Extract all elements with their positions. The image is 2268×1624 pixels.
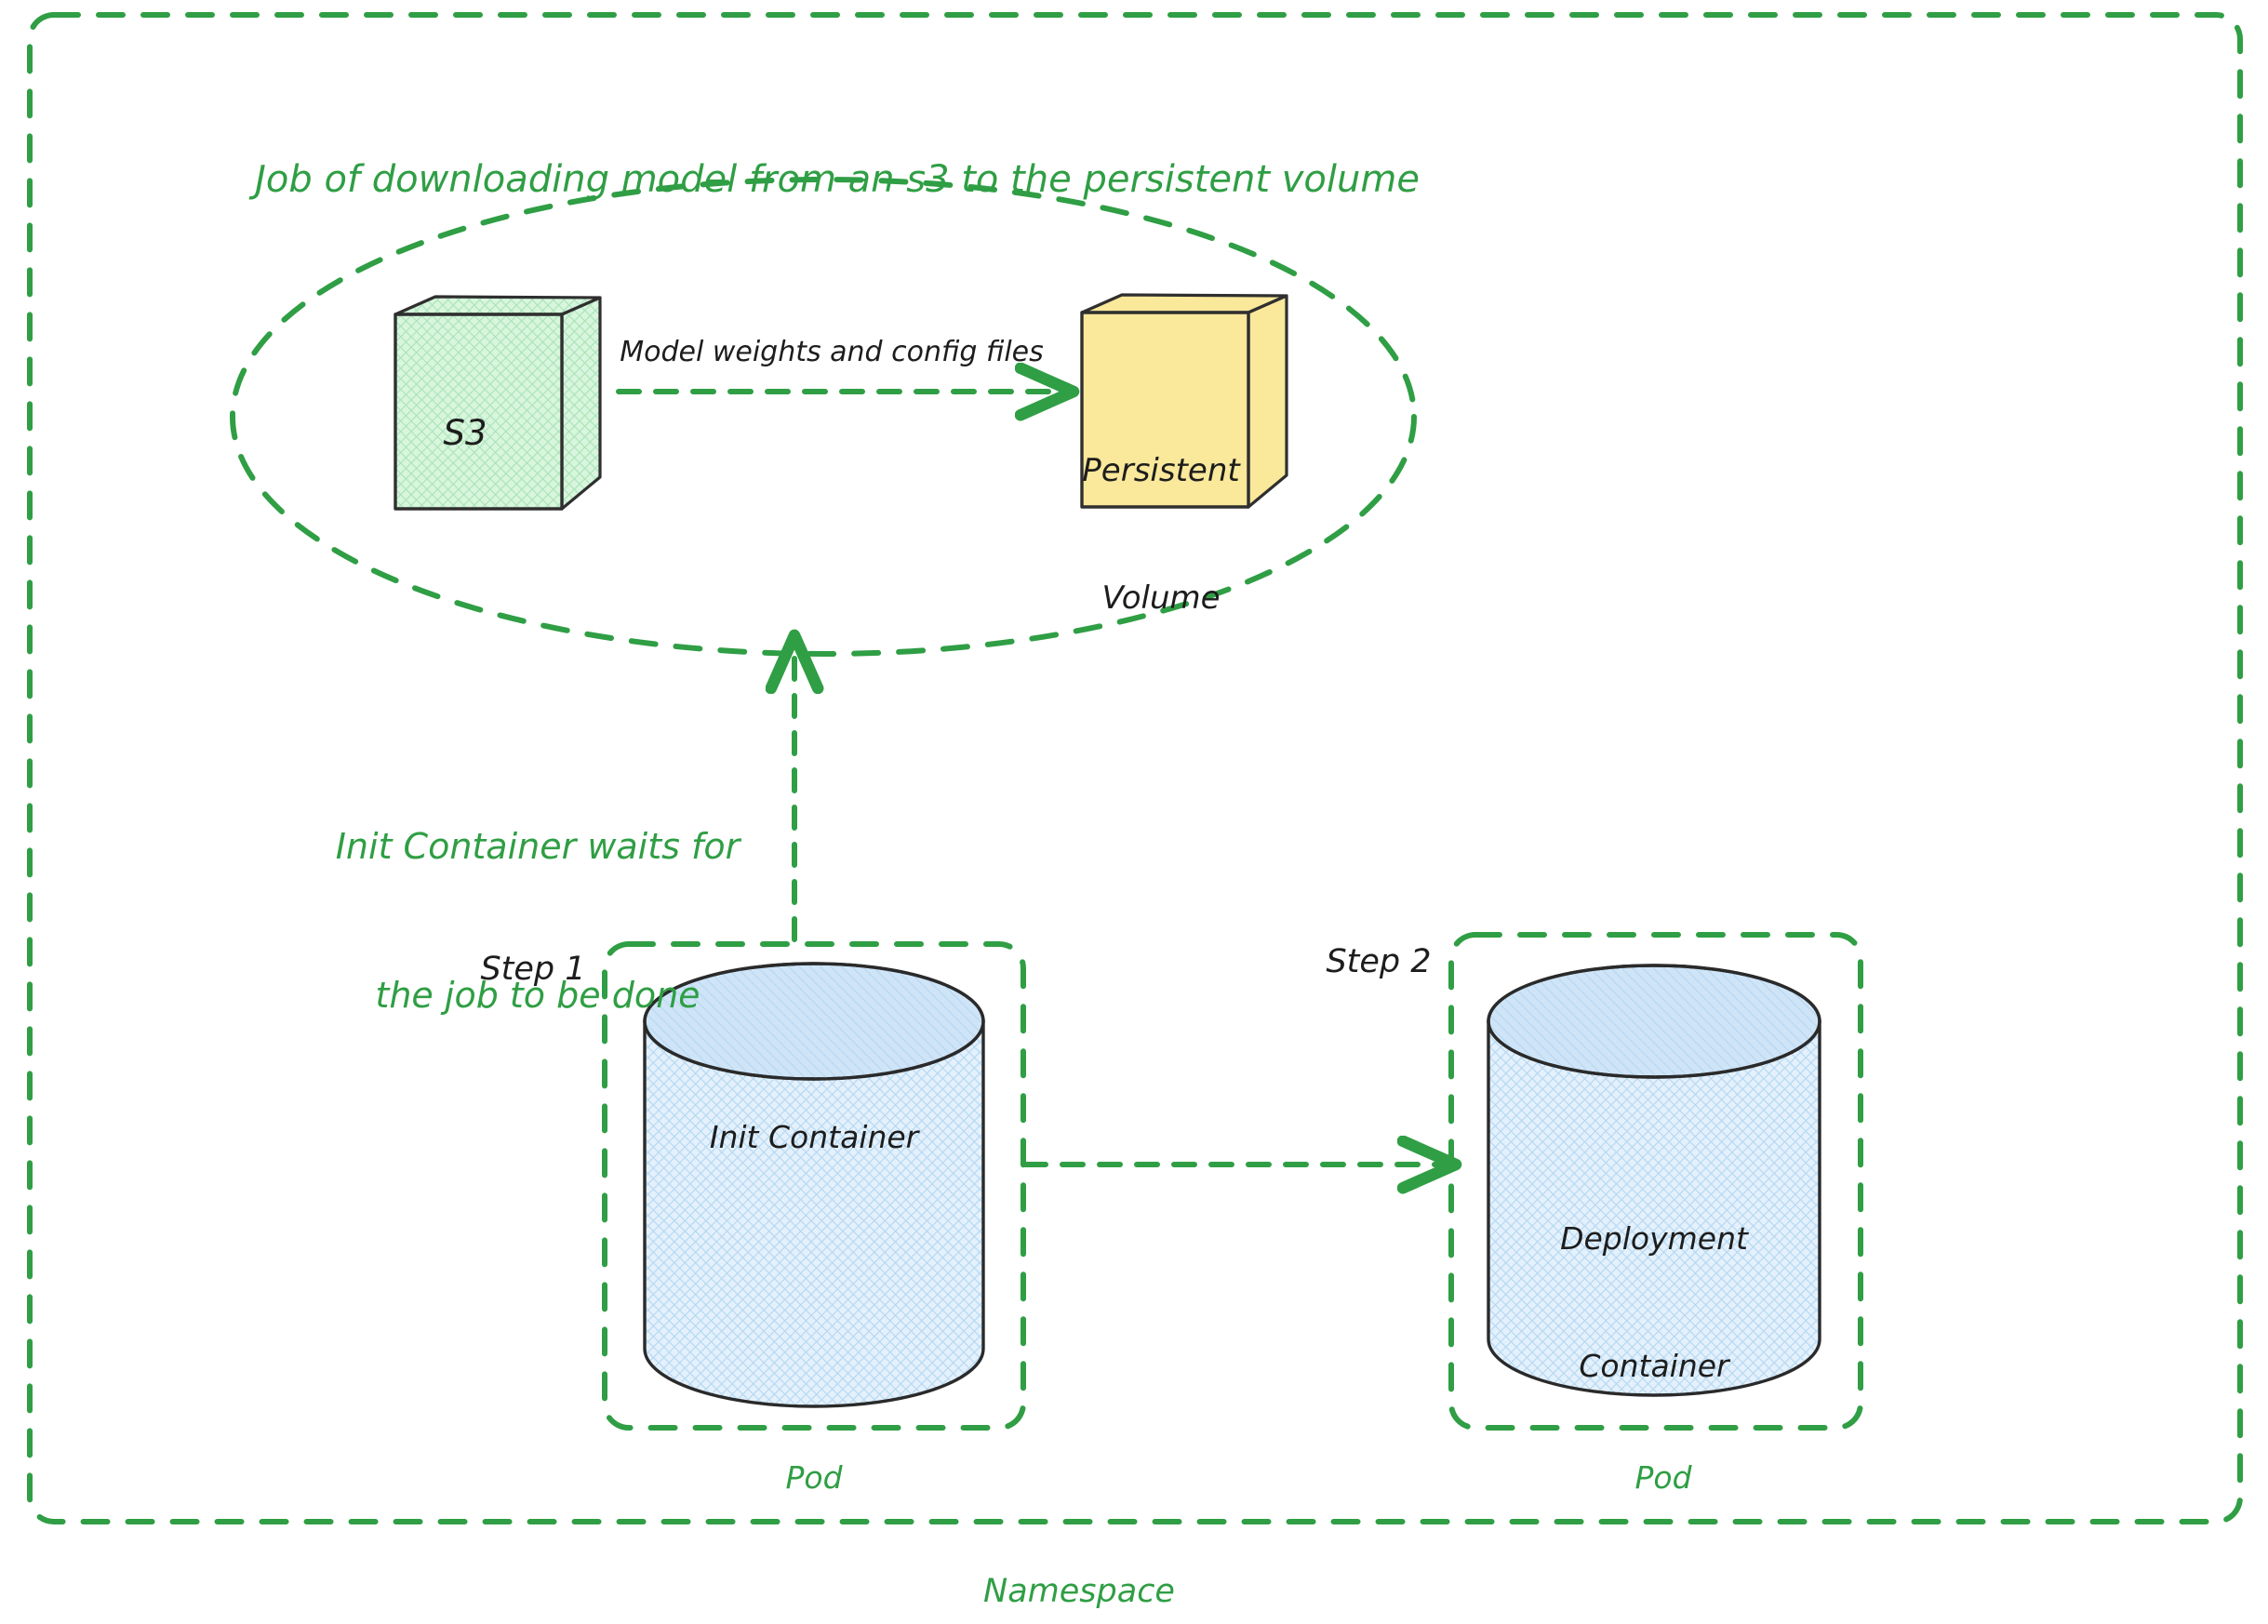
- step-2-label: Step 2: [1326, 942, 1431, 983]
- pod-2-label: Pod: [1634, 1458, 1691, 1497]
- deployment-container-label-line-2: Container: [1560, 1345, 1748, 1388]
- init-container-label: Init Container: [710, 1118, 919, 1156]
- s3-cube-shape: [394, 296, 600, 509]
- persistent-volume-label-line-1: Persistent: [1082, 450, 1239, 493]
- diagram-canvas: Job of downloading model from an s3 to t…: [0, 0, 2268, 1624]
- s3-cube-label: S3: [443, 412, 487, 455]
- model-weights-edge-label: Model weights and config files: [620, 335, 1044, 370]
- init-wait-note-line-1: Init Container waits for: [336, 822, 740, 872]
- namespace-label: Namespace: [983, 1572, 1175, 1613]
- step-1-label: Step 1: [480, 950, 585, 991]
- deployment-container-label-line-1: Deployment: [1560, 1218, 1748, 1260]
- pod-1-label: Pod: [785, 1458, 842, 1497]
- persistent-volume-label-line-2: Volume: [1082, 578, 1239, 620]
- persistent-volume-cube-label: Persistent Volume: [1082, 365, 1239, 706]
- init-wait-note: Init Container waits for the job to be d…: [336, 724, 740, 1120]
- job-group-title: Job of downloading model from an s3 to t…: [255, 156, 1420, 203]
- deployment-container-label: Deployment Container: [1560, 1133, 1748, 1471]
